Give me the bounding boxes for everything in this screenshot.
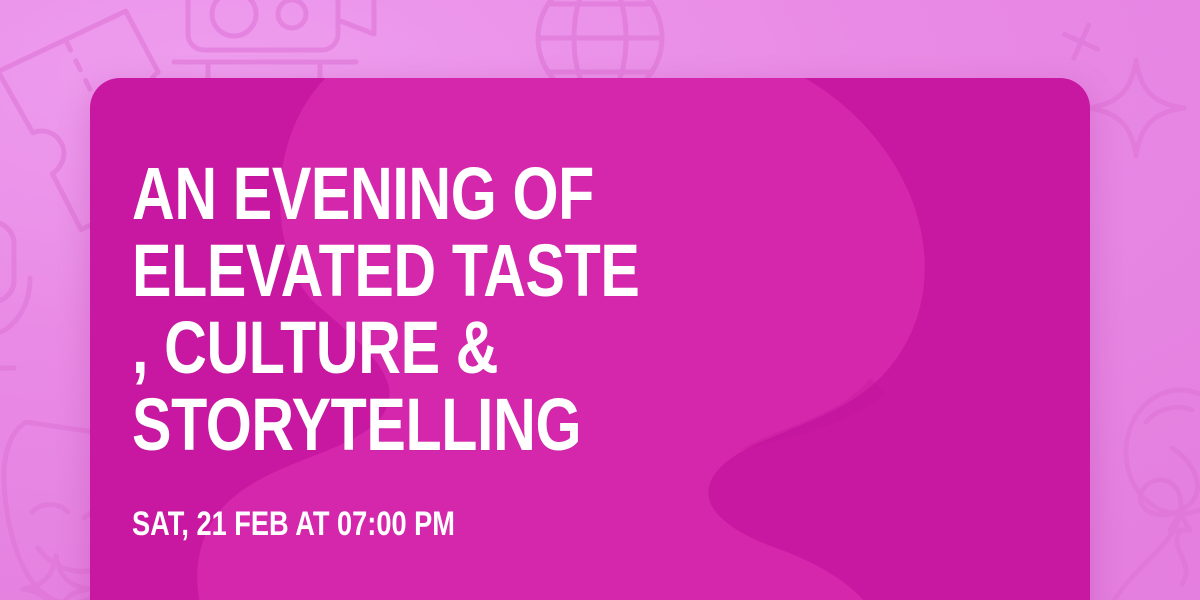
event-banner-card[interactable]: AN EVENING OF ELEVATED TASTE , CULTURE &…: [90, 78, 1090, 600]
event-datetime: SAT, 21 FEB AT 07:00 PM: [132, 506, 868, 543]
sparkle-star-icon: [23, 556, 89, 600]
card-text-content: AN EVENING OF ELEVATED TASTE , CULTURE &…: [132, 78, 1052, 600]
event-banner-screen: AN EVENING OF ELEVATED TASTE , CULTURE &…: [0, 0, 1200, 600]
balloon-icon: [1126, 390, 1200, 584]
film-projector-icon: [174, 0, 374, 78]
microphone-icon: [0, 222, 30, 368]
event-title: AN EVENING OF ELEVATED TASTE , CULTURE &…: [132, 156, 868, 464]
four-point-star-icon: [1057, 18, 1105, 66]
sparkle-star-icon: [1088, 60, 1184, 156]
